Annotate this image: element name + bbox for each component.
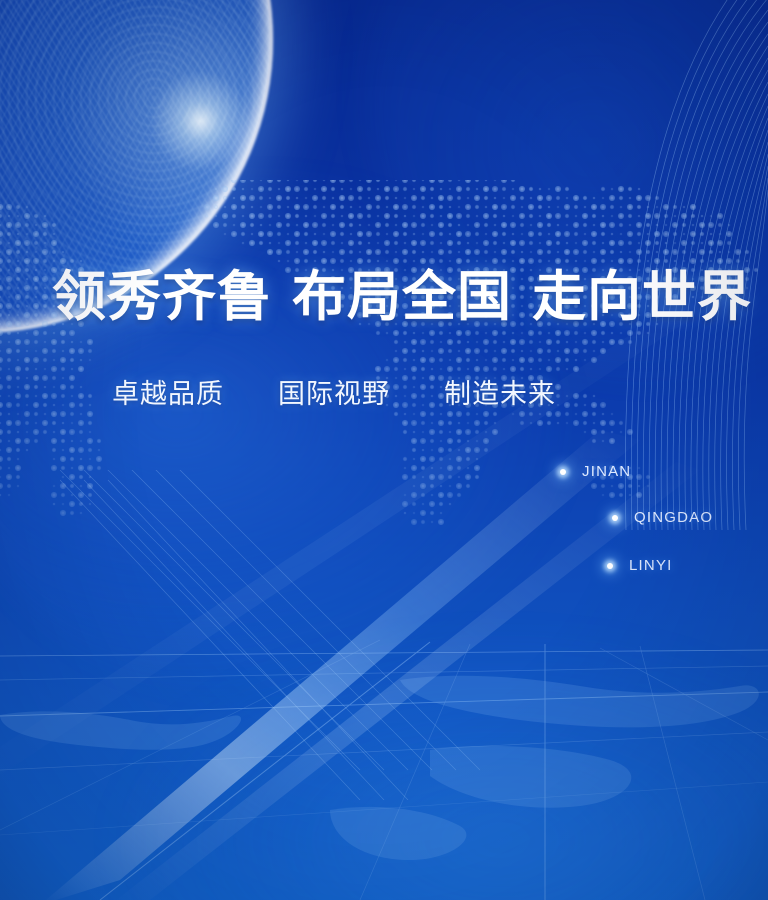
headline-phrase-3: 走向世界 bbox=[532, 264, 752, 328]
diagonal-light-streaks-icon bbox=[60, 470, 480, 800]
subtitle-item-2: 国际视野 bbox=[278, 379, 390, 410]
dotted-world-map-icon bbox=[0, 180, 768, 680]
background-glow-bottom bbox=[120, 640, 768, 900]
subtitle-item-3: 制造未来 bbox=[444, 379, 556, 410]
headline-phrase-1: 领秀齐鲁 bbox=[52, 264, 272, 328]
city-label-jinan: JINAN bbox=[582, 463, 631, 480]
city-label-linyi: LINYI bbox=[629, 557, 673, 574]
city-dot-icon bbox=[612, 515, 618, 521]
subtitle-item-1: 卓越品质 bbox=[112, 379, 224, 410]
city-marker-qingdao[interactable]: QINGDAO bbox=[612, 509, 713, 526]
city-dot-icon bbox=[560, 469, 566, 475]
banner-subtitle: 卓越品质国际视野制造未来 bbox=[112, 372, 556, 411]
city-marker-linyi[interactable]: LINYI bbox=[607, 557, 673, 574]
background-glow-center bbox=[0, 180, 580, 700]
hero-banner: 领秀齐鲁布局全国走向世界 卓越品质国际视野制造未来 JINAN QINGDAO … bbox=[0, 0, 768, 900]
city-marker-jinan[interactable]: JINAN bbox=[560, 463, 631, 480]
banner-headline: 领秀齐鲁布局全国走向世界 bbox=[52, 268, 752, 325]
edge-vignette bbox=[0, 0, 768, 900]
city-dot-icon bbox=[607, 563, 613, 569]
city-label-qingdao: QINGDAO bbox=[634, 509, 713, 526]
perspective-grid-floor-icon bbox=[0, 620, 768, 900]
light-beams-icon bbox=[0, 0, 768, 900]
headline-phrase-2: 布局全国 bbox=[292, 264, 512, 328]
